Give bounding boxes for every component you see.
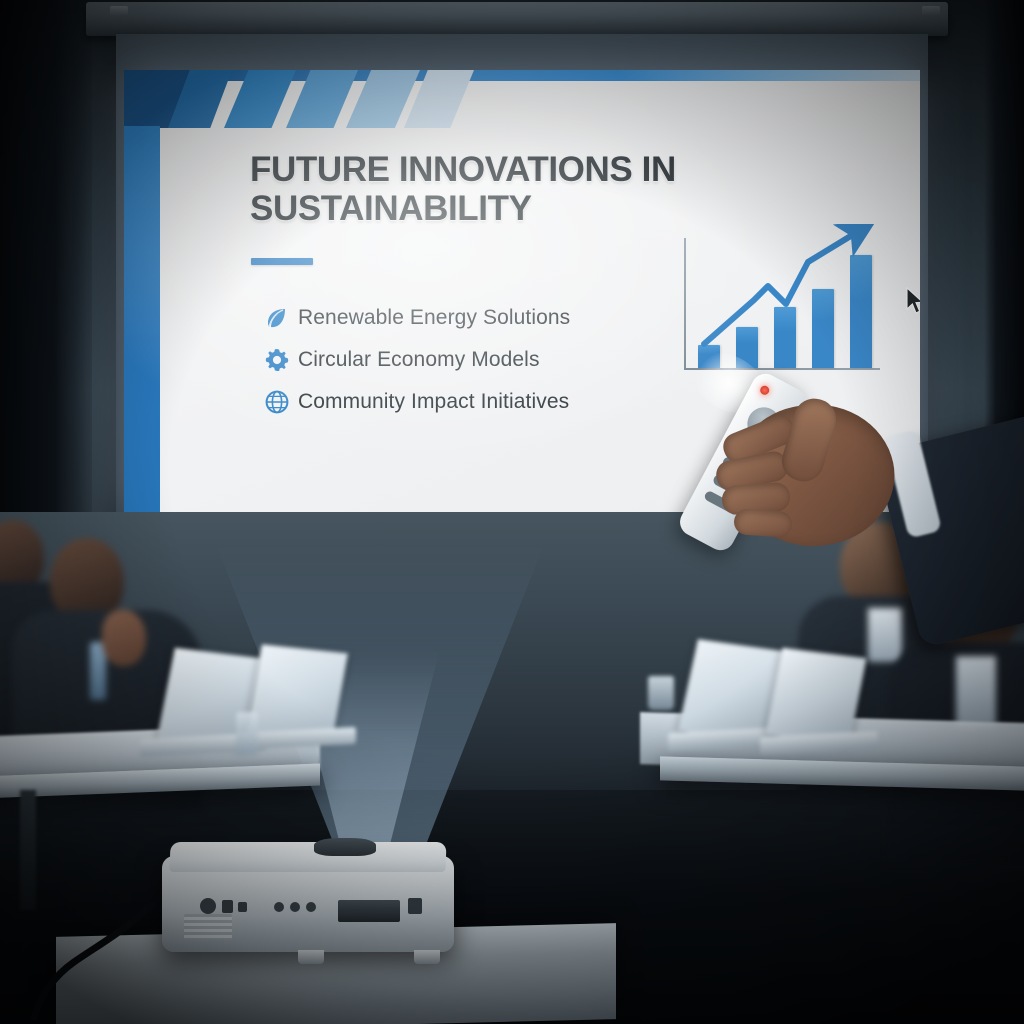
- finger-pinky: [733, 508, 793, 538]
- mouse-pointer-icon[interactable]: [904, 286, 920, 316]
- leaf-icon: [264, 305, 298, 331]
- projector-port-usb: [238, 902, 247, 912]
- presenter-hand: [700, 368, 1024, 668]
- projector-lens: [314, 838, 376, 856]
- coffee-cup: [648, 676, 674, 710]
- projector-port-audio-1: [274, 902, 284, 912]
- list-item[interactable]: Community Impact Initiatives: [264, 382, 684, 422]
- roller-bracket-right: [922, 6, 940, 15]
- projector-foot-left: [298, 950, 324, 964]
- projector-port-audio-2: [290, 902, 300, 912]
- projector-port-power: [200, 898, 216, 914]
- list-item-label: Community Impact Initiatives: [298, 390, 569, 414]
- gear-icon: [264, 347, 298, 373]
- laptop-screen: [246, 644, 348, 741]
- projector[interactable]: [162, 838, 454, 960]
- list-item[interactable]: Renewable Energy Solutions: [264, 298, 684, 338]
- projector-foot-right: [414, 950, 440, 964]
- projector-vent: [184, 914, 232, 940]
- list-item-label: Renewable Energy Solutions: [298, 306, 570, 330]
- slide-title: FUTURE INNOVATIONS IN SUSTAINABILITY: [250, 150, 730, 228]
- wall-shadow-left: [0, 0, 92, 560]
- chart-trend-arrow: [676, 224, 886, 374]
- projector-port-hdmi: [222, 900, 233, 913]
- slide-top-band: [124, 70, 920, 81]
- screen-roller-housing: [86, 2, 948, 36]
- conference-room-scene: FUTURE INNOVATIONS IN SUSTAINABILITY Ren…: [0, 0, 1024, 1024]
- list-item[interactable]: Circular Economy Models: [264, 340, 684, 380]
- projector-port-audio-3: [306, 902, 316, 912]
- slide-left-accent-bar: [124, 126, 160, 516]
- title-accent-rule: [251, 258, 313, 265]
- projector-io-panel: [338, 900, 400, 922]
- projector-power-cable: [30, 900, 160, 1020]
- roller-bracket-left: [110, 6, 128, 15]
- laptop[interactable]: [760, 652, 878, 762]
- table-left-leg: [20, 790, 36, 910]
- projector-top-panel: [169, 842, 446, 872]
- water-glass: [236, 712, 258, 756]
- globe-icon: [264, 389, 298, 415]
- bullet-list: Renewable Energy Solutions Circular Econ…: [264, 298, 684, 424]
- projector-port-vga: [408, 898, 422, 914]
- list-item-label: Circular Economy Models: [298, 348, 540, 372]
